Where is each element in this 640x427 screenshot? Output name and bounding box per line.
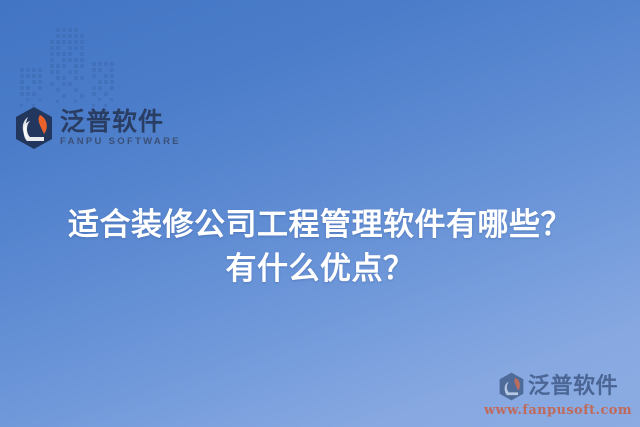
fanpu-hexagon-logo-icon (498, 372, 525, 401)
headline-line-1: 适合装修公司工程管理软件有哪些？ (0, 203, 640, 247)
page-title: 适合装修公司工程管理软件有哪些？ 有什么优点？ (0, 203, 640, 291)
watermark-brand-name: 泛普软件 (528, 376, 618, 398)
watermark-url: www.fanpusoft.com (484, 403, 632, 418)
dot-matrix-skyline-icon (14, 24, 130, 110)
watermark-brand-row: 泛普软件 (498, 372, 618, 401)
watermark: 泛普软件 www.fanpusoft.com (484, 372, 632, 418)
promo-banner: 泛普软件 FANPU SOFTWARE 适合装修公司工程管理软件有哪些？ 有什么… (0, 0, 640, 427)
brand-logo: 泛普软件 FANPU SOFTWARE (14, 106, 181, 150)
brand-name-cn: 泛普软件 (60, 109, 181, 134)
brand-name-en: FANPU SOFTWARE (60, 137, 181, 147)
fanpu-hexagon-logo-icon (14, 106, 54, 150)
headline-line-2: 有什么优点？ (0, 247, 640, 291)
